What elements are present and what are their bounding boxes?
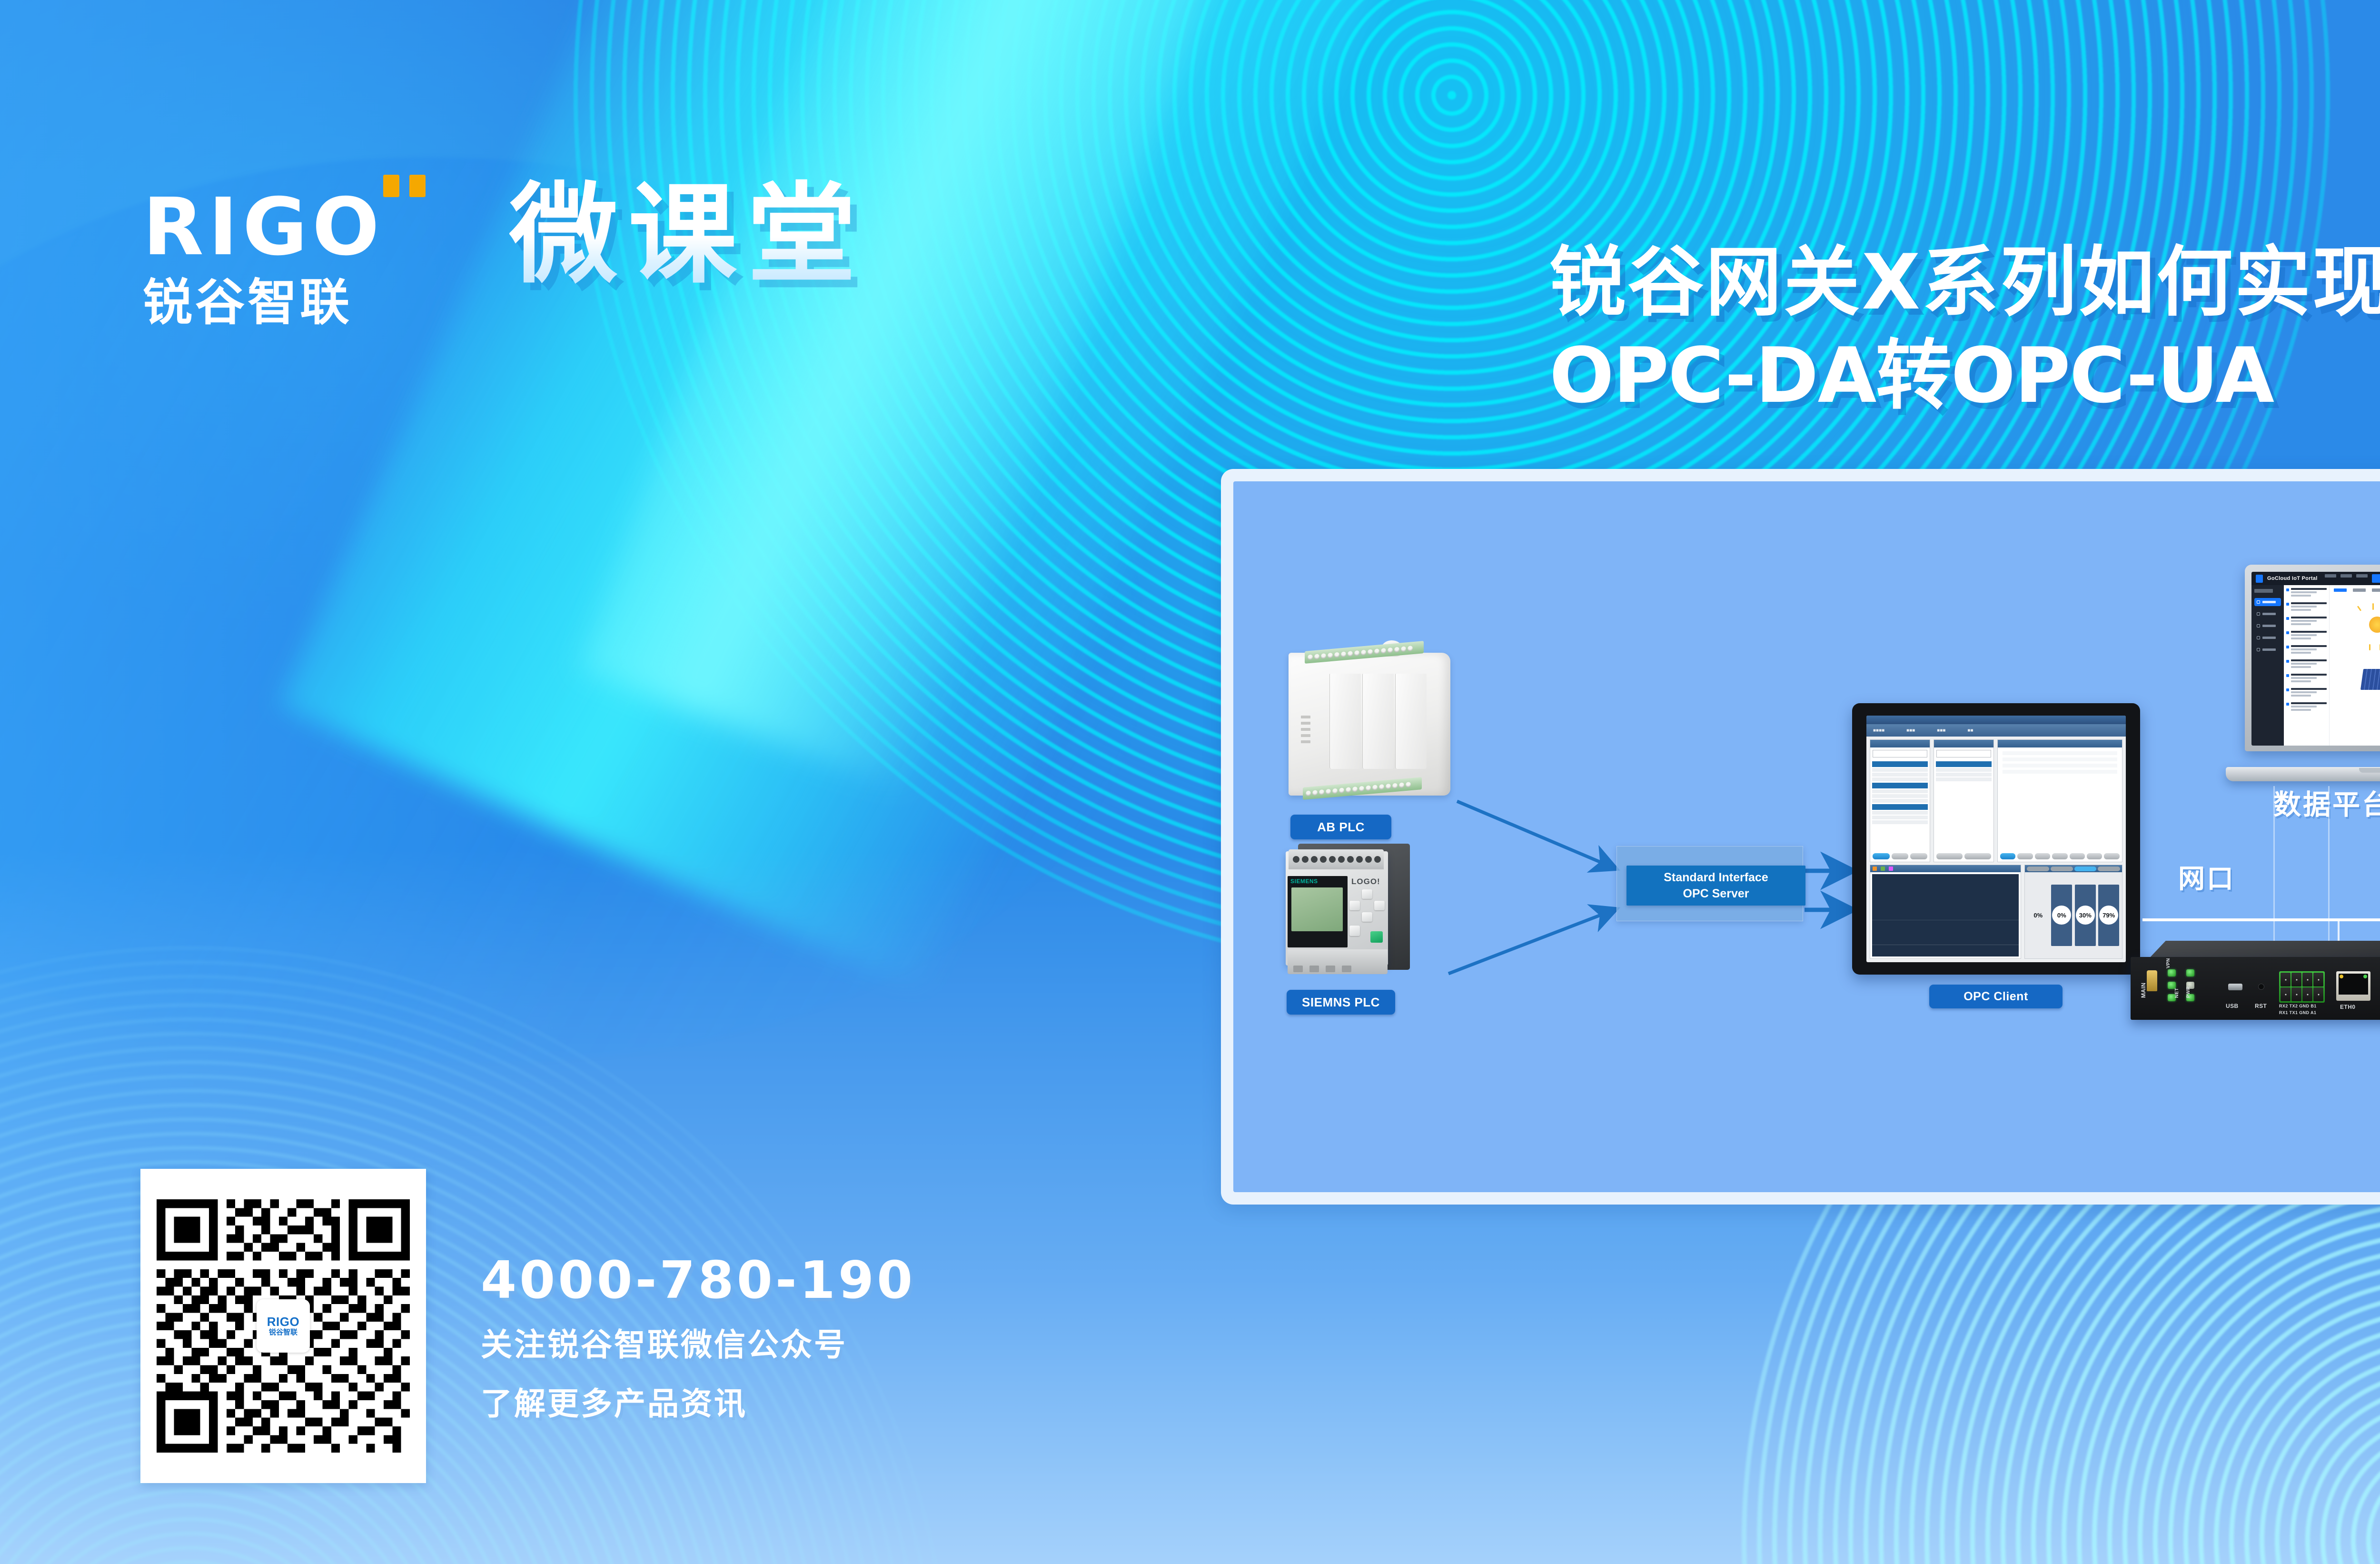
list-item[interactable] [2286,645,2327,655]
poster-canvas: RIGO 锐谷智联 微课堂 锐谷网关X系列如何实现 OPC-DA转OPC-UA … [0,0,2380,1564]
gateway-label-vpn: VPN [2166,958,2171,968]
gauge-value-0: 0% [2029,906,2048,925]
tab-1[interactable] [2334,588,2347,592]
opc-client-tablet: ■■■■ ■■■ ■■■ ■■ [1852,703,2140,975]
antenna-icon [2147,970,2157,991]
qr-logo-cn: 锐谷智联 [269,1329,297,1336]
list-item[interactable] [2286,617,2327,627]
opc-select-panel [1934,739,1994,862]
gateway-label-eth0: ETH0 [2340,1004,2355,1010]
laptop-screen: GoCloud IoT Portal [2251,572,2380,746]
rigo-gateway-device: MAIN VPN NET PWR USB RST RX2 TX2 GND B1 … [2131,941,2380,1029]
diagram-panel: AB PLC SIEMENS LOGO! [1221,469,2380,1205]
gauge-value-1: 0% [2052,906,2071,925]
opc-server-line-2: OPC Server [1683,886,1749,902]
opc-client-titlebar [1866,716,2126,724]
opc-items-panel [1997,739,2122,862]
terminal-block-icon [2279,971,2325,1003]
opc-server-line-1: Standard Interface [1664,869,1768,886]
headline-line-1: 锐谷网关X系列如何实现 [1549,236,2380,329]
opc-client-screen: ■■■■ ■■■ ■■■ ■■ [1866,716,2126,962]
sidebar-item-5[interactable] [2254,646,2281,654]
list-item[interactable] [2286,674,2327,684]
gateway-label-main: MAIN [2140,983,2147,998]
label-data-platform: 数据平台 [2273,782,2380,822]
opc-client-bottom: 0% 0% 30% 79% [1866,862,2126,962]
tab-2[interactable] [2353,588,2366,592]
gauge-value-2: 30% [2076,906,2095,925]
brand-lockup: RIGO 锐谷智联 [143,188,490,328]
list-item[interactable] [2286,588,2327,598]
opc-client-menubar: ■■■■ ■■■ ■■■ ■■ [1866,724,2126,737]
link-client-gateway [2142,918,2380,921]
solar-topology-diagram [2334,598,2380,735]
contact-block: 4000-780-190 关注锐谷智联微信公众号 了解更多产品资讯 [481,1252,915,1427]
qr-pattern: RIGO 锐谷智联 [157,1187,410,1465]
footer-line-1: 关注锐谷智联微信公众号 [481,1322,915,1368]
platform-device-list [2284,585,2330,746]
list-item[interactable] [2286,631,2327,641]
platform-sidebar [2251,585,2284,746]
platform-logo-icon [2256,575,2263,583]
connector-arrows [1233,481,2380,1192]
footer-line-2: 了解更多产品资讯 [481,1381,915,1427]
platform-nav [2325,574,2380,583]
platform-brand: GoCloud IoT Portal [2267,576,2318,581]
umlaut-dots-icon [383,175,426,197]
sidebar-item-3[interactable] [2254,622,2281,630]
gauge-value-3: 79% [2099,906,2118,925]
opc-server-box: Standard Interface OPC Server [1616,846,1803,921]
gateway-label-usb: USB [2226,1003,2239,1009]
headline-line-2: OPC-DA转OPC-UA [1549,329,2380,422]
label-network-port: 网口 [2178,857,2235,896]
gateway-label-terminal-bottom: RX1 TX1 GND A1 [2279,1010,2316,1015]
platform-tabs [2334,588,2380,592]
laptop-lid: GoCloud IoT Portal [2245,565,2380,751]
eth0-port-icon [2336,971,2370,1001]
list-item[interactable] [2286,602,2327,612]
qr-center-logo: RIGO 锐谷智联 [257,1299,310,1353]
gateway-label-net: NET [2174,988,2180,998]
hotline-number: 4000-780-190 [481,1252,915,1309]
data-platform-laptop: GoCloud IoT Portal [2226,565,2380,781]
usb-port-icon [2228,984,2242,990]
gateway-label-pwr: PWR [2186,986,2191,998]
badge-opc-client: OPC Client [1929,985,2063,1008]
qr-logo-text: RIGO [267,1315,299,1328]
diagram-canvas: AB PLC SIEMENS LOGO! [1233,481,2380,1192]
laptop-base [2226,767,2380,781]
page-title: 锐谷网关X系列如何实现 OPC-DA转OPC-UA [1549,236,2380,422]
brand-logo-row: RIGO [143,188,490,274]
sun-icon [2369,617,2380,633]
list-item[interactable] [2286,688,2327,698]
wechat-qr-code[interactable]: RIGO 锐谷智联 [140,1169,426,1483]
opc-trend-chart [1870,865,2021,959]
opc-gauge-panel: 0% 0% 30% 79% [2024,865,2122,959]
brand-logo-cn: 锐谷智联 [143,277,490,328]
brand-logo-text: RIGO [143,188,490,267]
gateway-label-terminal-top: RX2 TX2 GND B1 [2279,1004,2317,1008]
list-item[interactable] [2286,702,2327,712]
list-item[interactable] [2286,659,2327,669]
reset-button-icon[interactable] [2258,984,2264,990]
gateway-label-rst: RST [2255,1003,2267,1009]
sidebar-item-2[interactable] [2254,610,2281,618]
solar-panel-icon [2360,669,2380,690]
platform-diagram-view [2330,585,2380,746]
platform-topbar: GoCloud IoT Portal [2251,572,2380,585]
sidebar-item-1[interactable] [2254,598,2281,606]
series-title: 微课堂 [509,179,866,291]
opc-client-panels [1866,737,2126,862]
tab-3[interactable] [2372,588,2380,592]
diagram-caption [2334,726,2380,734]
opc-browse-panel [1870,739,1930,862]
sidebar-item-4[interactable] [2254,634,2281,642]
